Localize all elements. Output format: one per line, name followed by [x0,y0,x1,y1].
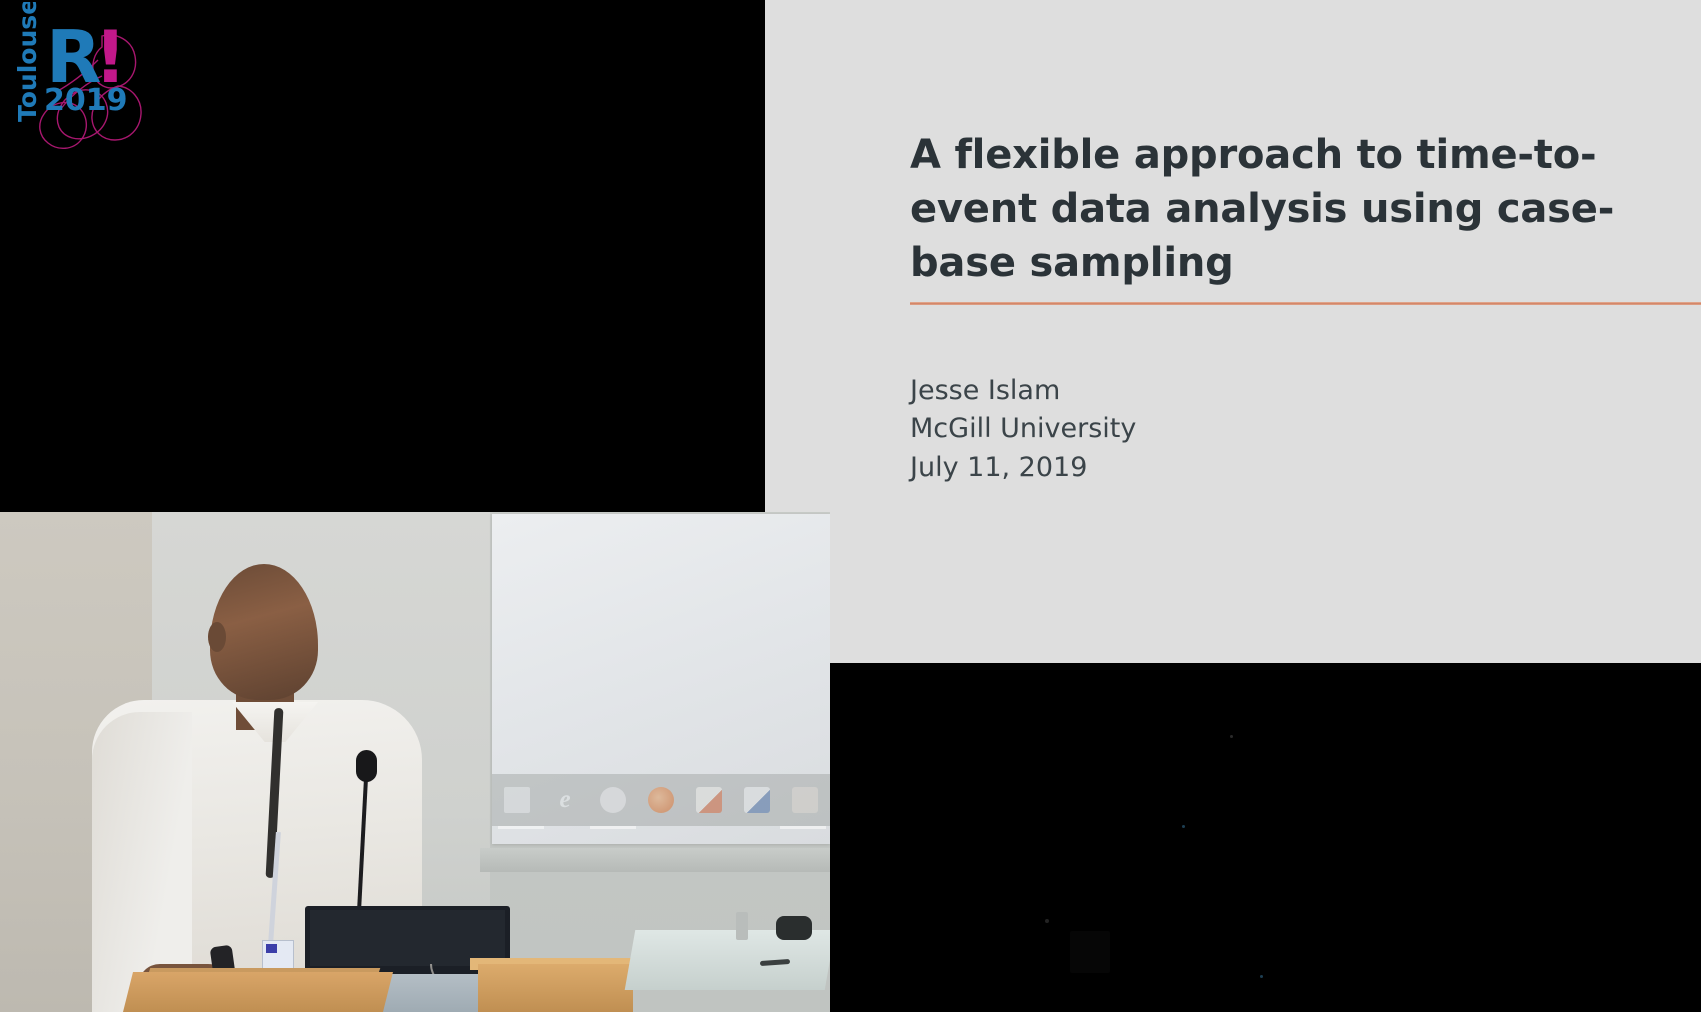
taskbar-active-underline [498,826,544,829]
powerpoint-icon [696,787,722,813]
microphone-head [356,750,377,782]
internet-explorer-icon: e [552,787,578,813]
noise-speck [1045,919,1049,923]
taskbar-active-underline [590,826,636,829]
slide-author-block: Jesse Islam McGill University July 11, 2… [910,372,1136,487]
noise-patch [1070,931,1110,973]
podium-right [478,964,633,1012]
toulouse-r-2019-logo: Toulouse R ! 2019 [6,2,176,192]
slide-date: July 11, 2019 [910,449,1136,487]
noise-speck [1182,825,1185,828]
search-circle-icon [600,787,626,813]
slide-title: A flexible approach to time-to-event dat… [910,128,1700,290]
word-icon [744,787,770,813]
video-player-stage: e [0,0,1701,1012]
noise-speck [1260,975,1263,978]
logo-year: 2019 [44,83,128,118]
logo-toulouse-text: Toulouse [13,2,42,122]
slide-affiliation: McGill University [910,410,1136,448]
badge-logo [266,944,277,953]
taskbar-active-underline [780,826,826,829]
projected-taskbar: e [492,774,830,826]
presenter-ear [208,622,226,652]
wall-shelf [480,848,830,872]
noise-speck [1230,735,1233,738]
app-icon [792,787,818,813]
speaker-camera-panel[interactable]: e [0,0,830,1012]
video-letterbox-lower-right [830,663,1701,1012]
slide-content: A flexible approach to time-to-event dat… [830,0,1701,663]
slide-author-name: Jesse Islam [910,372,1136,410]
speaker-camera-frame: e [0,512,830,1012]
table-object [776,916,812,940]
file-explorer-icon [504,787,530,813]
podium-front [123,972,393,1012]
slide-background-extension [765,0,831,512]
slide-divider-rule [910,302,1701,305]
table-bottle [736,912,748,940]
firefox-icon [648,787,674,813]
presentation-slide-panel[interactable]: A flexible approach to time-to-event dat… [830,0,1701,663]
